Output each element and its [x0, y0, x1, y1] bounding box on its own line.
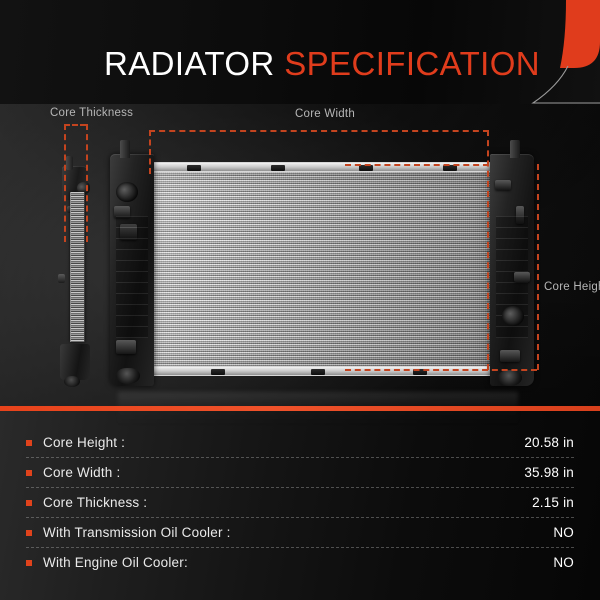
table-row: Core Thickness : 2.15 in	[26, 488, 574, 518]
left-tank-ribs	[116, 216, 148, 338]
core-width-bracket-top	[149, 130, 489, 132]
spec-label: Core Thickness :	[43, 495, 532, 510]
right-mount-foot	[498, 370, 522, 386]
spec-value: NO	[553, 525, 574, 540]
product-image-stage	[0, 104, 600, 408]
front-view-radiator	[112, 154, 532, 386]
core-thickness-bracket-left	[64, 124, 66, 242]
core-height-label: Core Height	[544, 281, 600, 293]
right-bracket-mid	[514, 272, 530, 282]
bullet-icon	[26, 500, 32, 506]
title-text-primary: RADIATOR	[104, 45, 284, 82]
right-outlet-port	[502, 306, 524, 326]
side-mount-foot	[64, 376, 80, 387]
side-bracket-c	[58, 274, 65, 283]
title-text-accent: SPECIFICATION	[284, 45, 540, 82]
left-bracket-lower	[116, 340, 136, 354]
section-divider	[0, 406, 600, 411]
table-row: With Transmission Oil Cooler : NO	[26, 518, 574, 548]
guide-line	[533, 66, 600, 103]
right-end-tank	[490, 154, 534, 386]
radiator-specification-card: RADIATOR SPECIFICATION	[0, 0, 600, 600]
bullet-icon	[26, 560, 32, 566]
core-bottom-rail	[150, 366, 492, 376]
red-petal-shape	[560, 0, 600, 68]
side-core-fins	[70, 192, 85, 342]
left-end-tank	[110, 154, 154, 386]
left-inlet-port	[116, 182, 138, 202]
spec-label: Core Height :	[43, 435, 524, 450]
table-row: Core Height : 20.58 in	[26, 428, 574, 458]
side-bottom-tank	[60, 344, 90, 380]
right-bracket-upper	[495, 180, 511, 190]
core-thickness-label: Core Thickness	[50, 107, 133, 119]
rail-tab	[187, 165, 201, 171]
spec-value: 20.58 in	[524, 435, 574, 450]
bullet-icon	[26, 530, 32, 536]
spec-label: With Transmission Oil Cooler :	[43, 525, 553, 540]
spec-value: 2.15 in	[532, 495, 574, 510]
specification-table: Core Height : 20.58 in Core Width : 35.9…	[26, 428, 574, 577]
core-width-bracket-left	[149, 130, 151, 174]
rail-tab	[311, 369, 325, 375]
core-shading	[150, 172, 492, 368]
bullet-icon	[26, 470, 32, 476]
core-height-bracket-top	[345, 164, 489, 166]
page-title: RADIATOR SPECIFICATION	[104, 47, 540, 80]
left-mount-foot	[116, 368, 140, 384]
radiator-core	[150, 172, 492, 368]
spec-label: Core Width :	[43, 465, 524, 480]
table-row: With Engine Oil Cooler: NO	[26, 548, 574, 577]
table-row: Core Width : 35.98 in	[26, 458, 574, 488]
spec-label: With Engine Oil Cooler:	[43, 555, 553, 570]
rail-tab	[211, 369, 225, 375]
core-width-label: Core Width	[295, 108, 355, 120]
core-thickness-bracket-top	[64, 124, 86, 126]
core-thickness-bracket-right	[86, 124, 88, 242]
core-width-bracket-right	[487, 130, 489, 370]
bullet-icon	[26, 440, 32, 446]
right-filler-neck	[510, 140, 520, 158]
spec-value: 35.98 in	[524, 465, 574, 480]
spec-value: NO	[553, 555, 574, 570]
right-bracket-lower	[500, 350, 520, 362]
core-height-bracket-bottom	[345, 369, 537, 371]
rail-tab	[271, 165, 285, 171]
left-filler-neck	[120, 140, 130, 158]
core-height-bracket-line	[537, 164, 539, 370]
side-filler-neck	[66, 156, 73, 170]
